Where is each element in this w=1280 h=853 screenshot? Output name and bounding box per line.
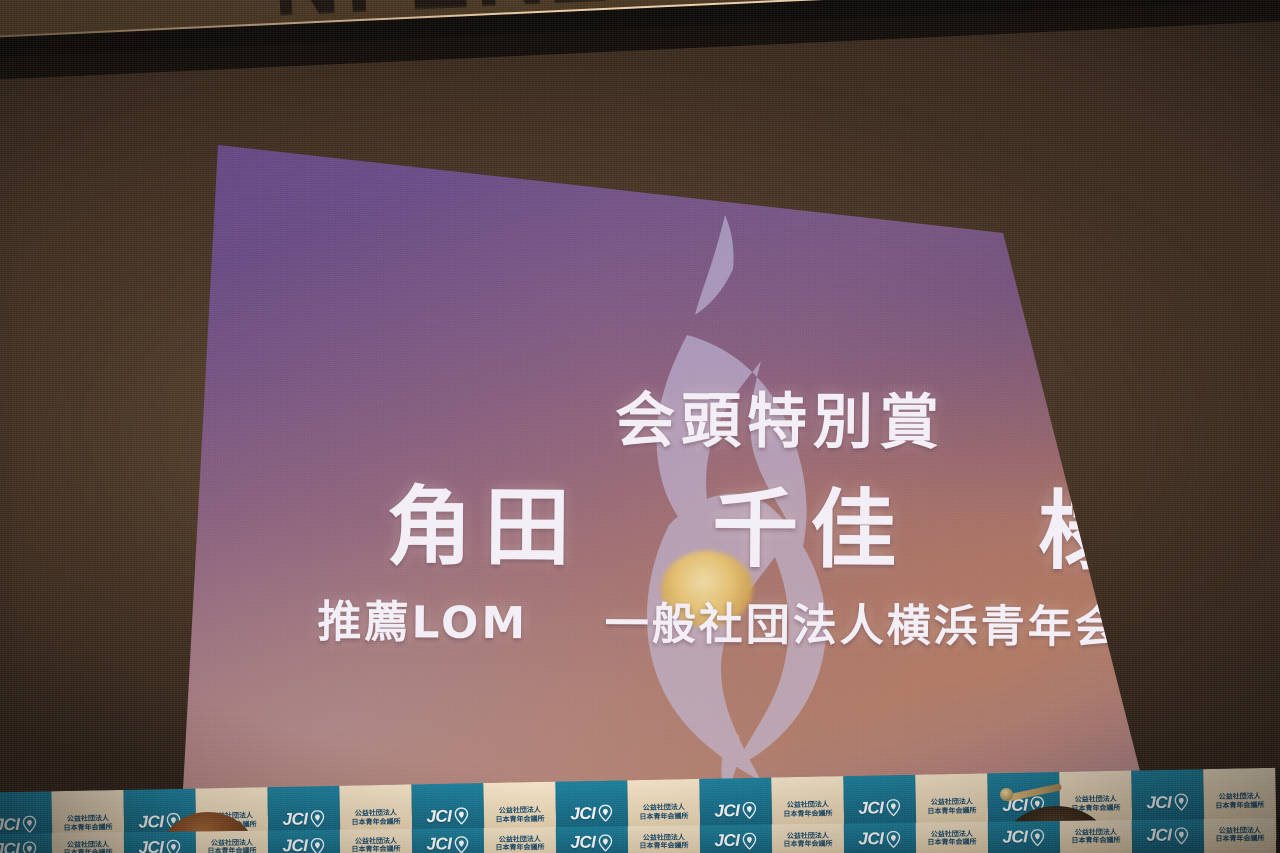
jci-pin-icon [598, 834, 613, 851]
jci-tile-cream: 公益社団法人日本青年会議所 [628, 825, 700, 853]
jci-org-text: 公益社団法人日本青年会議所 [783, 801, 832, 818]
jci-logo: JCI [858, 829, 901, 850]
jci-wordmark: JCI [858, 798, 883, 818]
jci-org-text: 公益社団法人日本青年会議所 [495, 835, 544, 852]
jci-tile-blue: JCI [268, 830, 340, 853]
microphone-capsule-icon [1000, 788, 1013, 801]
jci-pin-icon [22, 816, 37, 833]
jci-wordmark: JCI [570, 803, 595, 823]
jci-wordmark: JCI [714, 801, 739, 821]
jci-org-text: 公益社団法人日本青年会議所 [639, 804, 688, 821]
photo-scene: NFERENCE 2017 会頭特別賞 角田 千佳 [0, 0, 1280, 853]
recipient-family-name: 角田 [386, 477, 583, 578]
jci-org-text: 公益社団法人日本青年会議所 [63, 840, 112, 853]
jci-org-text: 公益社団法人日本青年会議所 [1215, 792, 1264, 809]
jci-logo: JCI [714, 831, 757, 852]
jci-wordmark: JCI [714, 831, 739, 851]
jci-pin-icon [22, 841, 37, 853]
jci-org-text: 公益社団法人日本青年会議所 [351, 809, 400, 826]
recipient-given-name: 千佳 [712, 480, 909, 581]
jci-pin-icon [886, 799, 901, 816]
jci-org-text: 公益社団法人日本青年会議所 [927, 798, 976, 815]
jci-logo: JCI [138, 838, 181, 853]
jci-tile-cream: 公益社団法人日本青年会議所 [52, 832, 124, 853]
jci-org-text: 公益社団法人日本青年会議所 [1215, 826, 1264, 843]
jci-pin-icon [454, 807, 469, 824]
jci-org-text: 公益社団法人日本青年会議所 [207, 839, 256, 853]
jci-tile-cream: 公益社団法人日本青年会議所 [772, 824, 844, 853]
jci-org-text: 公益社団法人日本青年会議所 [495, 806, 544, 823]
jci-pin-icon [598, 805, 613, 822]
jci-tile-cream: 公益社団法人日本青年会議所 [1060, 820, 1132, 853]
jci-wordmark: JCI [138, 812, 163, 832]
jci-pin-icon [310, 837, 325, 853]
jci-wordmark: JCI [1002, 827, 1027, 847]
jci-wordmark: JCI [858, 829, 883, 849]
jci-tile-blue: JCI [1132, 819, 1204, 853]
jci-tile-cream: 公益社団法人日本青年会議所 [340, 829, 412, 853]
jci-tile-blue: JCI [556, 826, 628, 853]
jci-tile-cream: 公益社団法人日本青年会議所 [484, 827, 556, 853]
jci-org-text: 公益社団法人日本青年会議所 [639, 833, 688, 850]
jci-pin-icon [1174, 827, 1189, 844]
jci-pin-icon [166, 839, 181, 853]
jci-org-text: 公益社団法人日本青年会議所 [1071, 828, 1120, 845]
jci-tile-blue: JCI [124, 831, 196, 853]
jci-tile-cream: 公益社団法人日本青年会議所 [196, 831, 268, 853]
jci-logo: JCI [570, 832, 613, 853]
jci-pin-icon [1030, 829, 1045, 846]
jci-wordmark: JCI [426, 806, 451, 826]
jci-wordmark: JCI [282, 809, 307, 829]
jci-wordmark: JCI [138, 838, 163, 853]
jci-wordmark: JCI [282, 836, 307, 853]
jci-logo: JCI [282, 809, 325, 830]
jci-org-text: 公益社団法人日本青年会議所 [927, 830, 976, 847]
jci-wordmark: JCI [426, 834, 451, 853]
jci-tile-cream: 公益社団法人日本青年会議所 [916, 822, 988, 853]
jci-logo: JCI [1146, 792, 1189, 813]
jci-wordmark: JCI [1146, 826, 1171, 846]
jci-wordmark: JCI [0, 840, 20, 853]
jci-logo: JCI [0, 814, 38, 835]
jci-pin-icon [310, 810, 325, 827]
jci-logo: JCI [426, 834, 469, 853]
jci-tile-blue: JCI [988, 821, 1060, 853]
jci-logo: JCI [0, 839, 38, 853]
jci-pin-icon [742, 832, 757, 849]
jci-wordmark: JCI [0, 814, 20, 834]
jci-wordmark: JCI [570, 833, 595, 853]
jci-tile-blue: JCI [700, 824, 772, 853]
jci-logo: JCI [282, 836, 325, 853]
jci-pin-icon [742, 802, 757, 819]
jci-pin-icon [886, 830, 901, 847]
jci-tile-blue: JCI [412, 828, 484, 853]
jci-logo: JCI [1002, 827, 1045, 848]
jci-tile-blue: JCI [844, 823, 916, 853]
jci-logo: JCI [426, 806, 469, 827]
jci-logo: JCI [714, 800, 757, 821]
jci-pin-icon [454, 836, 469, 853]
jci-org-text: 公益社団法人日本青年会議所 [351, 837, 400, 853]
jci-tile-blue: JCI [0, 833, 52, 853]
recommendation-label: 推薦LOM [317, 597, 528, 649]
jci-pin-icon [1174, 793, 1189, 810]
jci-logo: JCI [1146, 825, 1189, 846]
jci-logo: JCI [570, 803, 613, 824]
jci-org-text: 公益社団法人日本青年会議所 [63, 815, 112, 832]
jci-wordmark: JCI [1146, 792, 1171, 812]
jci-tile-cream: 公益社団法人日本青年会議所 [1204, 818, 1276, 853]
jci-org-text: 公益社団法人日本青年会議所 [783, 832, 832, 849]
jci-logo: JCI [858, 797, 901, 818]
